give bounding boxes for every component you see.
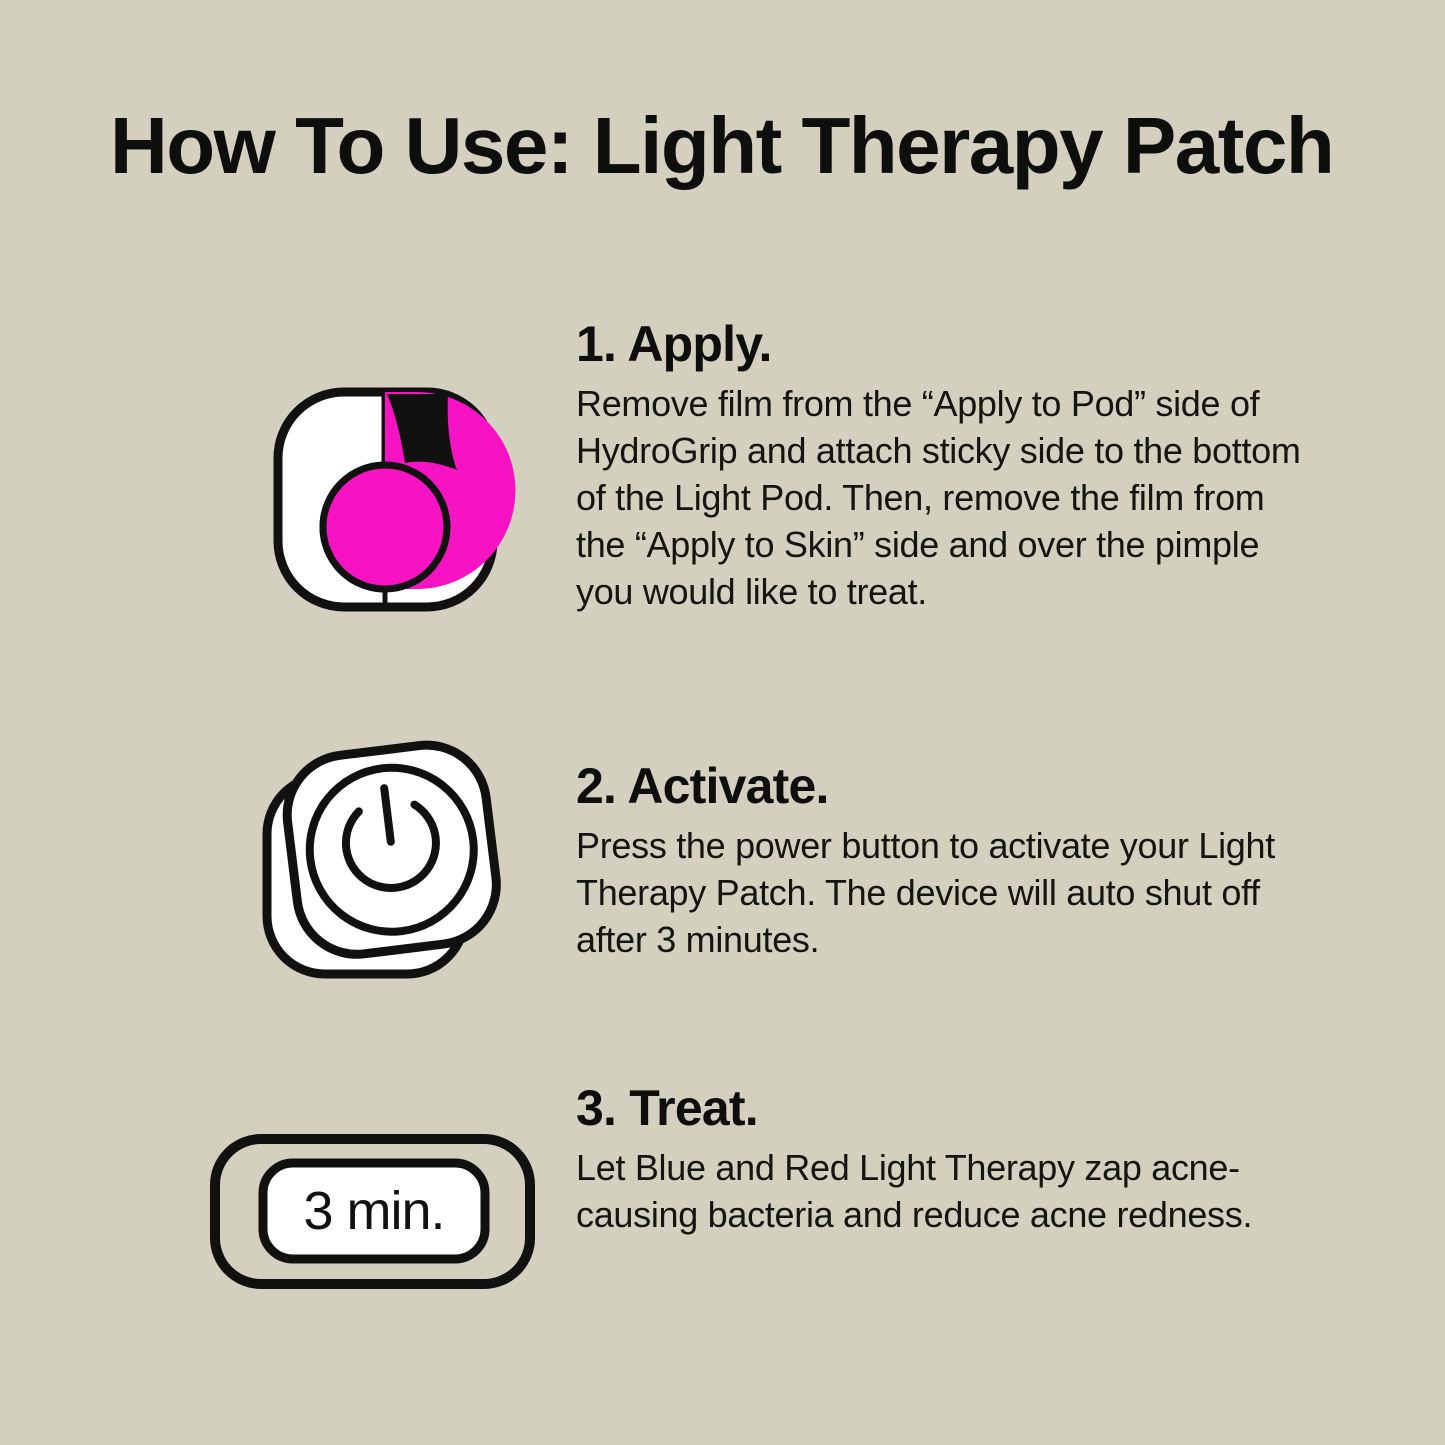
step-1-heading: 1. Apply.	[576, 318, 1316, 370]
infographic-page: How To Use: Light Therapy Patch	[0, 0, 1445, 1445]
step-1-body: Remove film from the “Apply to Pod” side…	[576, 380, 1316, 615]
hydrogrip-peel-film-icon	[205, 330, 565, 690]
step-1-icon	[205, 330, 565, 690]
page-title: How To Use: Light Therapy Patch	[110, 104, 1333, 188]
step-2-text: 2. Activate. Press the power button to a…	[576, 760, 1316, 963]
three-minute-timer-icon: 3 min.	[205, 1036, 565, 1396]
step-1-text: 1. Apply. Remove film from the “Apply to…	[576, 318, 1316, 615]
step-3-icon: 3 min.	[205, 1036, 565, 1396]
step-3-text: 3. Treat. Let Blue and Red Light Therapy…	[576, 1082, 1316, 1238]
step-3-body: Let Blue and Red Light Therapy zap acne-…	[576, 1144, 1316, 1238]
step-2-icon	[205, 690, 565, 1050]
step-2-heading: 2. Activate.	[576, 760, 1316, 812]
step-2-body: Press the power button to activate your …	[576, 822, 1316, 963]
step-3-heading: 3. Treat.	[576, 1082, 1316, 1134]
timer-label: 3 min.	[303, 1181, 444, 1241]
power-button-patch-icon	[205, 690, 565, 1050]
